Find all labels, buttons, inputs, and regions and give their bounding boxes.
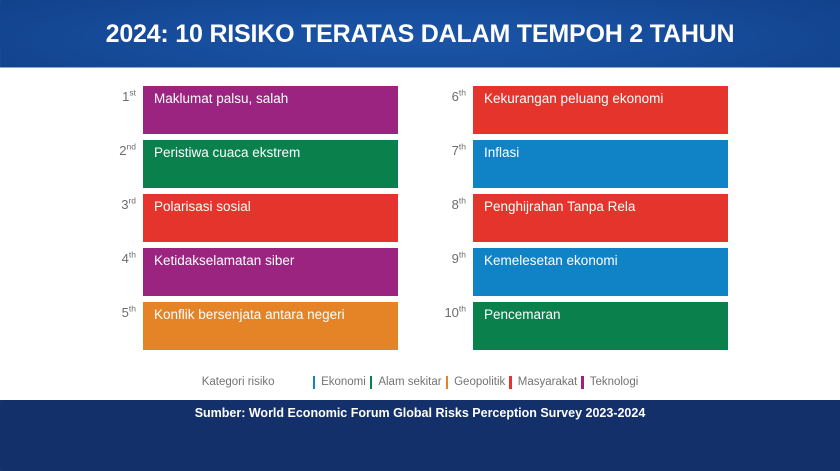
legend-color-tick — [370, 376, 373, 389]
risk-bar[interactable]: Ketidakselamatan siber — [143, 248, 398, 296]
risk-rank-suffix: th — [459, 88, 466, 98]
risk-row: 7thInflasi — [434, 140, 764, 188]
risk-rank-suffix: rd — [128, 196, 136, 206]
legend-item: Masyarakat — [505, 376, 577, 389]
risk-rank-number: 10 — [444, 305, 458, 320]
risk-bar[interactable]: Kekurangan peluang ekonomi — [473, 86, 728, 134]
risk-label: Peristiwa cuaca ekstrem — [154, 145, 398, 161]
infographic-root: 2024: 10 RISIKO TERATAS DALAM TEMPOH 2 T… — [0, 0, 840, 471]
risk-columns: 1stMaklumat palsu, salah2ndPeristiwa cua… — [0, 68, 840, 364]
risk-bar[interactable]: Pencemaran — [473, 302, 728, 350]
risk-rank: 9th — [434, 248, 466, 269]
legend-item-label: Teknologi — [590, 376, 639, 388]
source-note: Sumber: World Economic Forum Global Risk… — [0, 406, 840, 420]
risk-column-left: 1stMaklumat palsu, salah2ndPeristiwa cua… — [104, 86, 434, 356]
risk-row: 2ndPeristiwa cuaca ekstrem — [104, 140, 434, 188]
risk-rank-suffix: nd — [127, 142, 136, 152]
risk-rank-number: 9 — [452, 251, 459, 266]
risk-bar[interactable]: Maklumat palsu, salah — [143, 86, 398, 134]
risk-label: Kekurangan peluang ekonomi — [484, 91, 728, 107]
risk-row: 5thKonflik bersenjata antara negeri — [104, 302, 434, 350]
legend-items: EkonomiAlam sekitarGeopolitikMasyarakatT… — [309, 376, 639, 389]
risk-label: Pencemaran — [484, 307, 728, 323]
risk-rank-number: 2 — [119, 143, 126, 158]
legend: Kategori risiko EkonomiAlam sekitarGeopo… — [0, 372, 840, 392]
risk-bar[interactable]: Polarisasi sosial — [143, 194, 398, 242]
risk-row: 9thKemelesetan ekonomi — [434, 248, 764, 296]
risk-row: 4thKetidakselamatan siber — [104, 248, 434, 296]
risk-bar[interactable]: Penghijrahan Tanpa Rela — [473, 194, 728, 242]
risk-rank-suffix: st — [129, 88, 136, 98]
risk-label: Inflasi — [484, 145, 728, 161]
risk-rank: 4th — [104, 248, 136, 269]
legend-item: Geopolitik — [442, 376, 506, 389]
risk-bar[interactable]: Konflik bersenjata antara negeri — [143, 302, 398, 350]
legend-item-label: Alam sekitar — [378, 376, 441, 388]
legend-color-tick — [313, 376, 316, 389]
risk-rank: 3rd — [104, 194, 136, 215]
legend-item-label: Ekonomi — [321, 376, 366, 388]
risk-rank-suffix: th — [129, 304, 136, 314]
risk-rank-number: 5 — [122, 305, 129, 320]
risk-rank-number: 7 — [452, 143, 459, 158]
risk-label: Kemelesetan ekonomi — [484, 253, 728, 269]
risk-label: Ketidakselamatan siber — [154, 253, 398, 269]
legend-item: Alam sekitar — [366, 376, 442, 389]
legend-color-tick — [509, 376, 512, 389]
risk-rank-suffix: th — [459, 304, 466, 314]
legend-item: Teknologi — [577, 376, 638, 389]
risk-label: Konflik bersenjata antara negeri — [154, 307, 398, 323]
risk-row: 10thPencemaran — [434, 302, 764, 350]
risk-label: Penghijrahan Tanpa Rela — [484, 199, 728, 215]
risk-bar[interactable]: Kemelesetan ekonomi — [473, 248, 728, 296]
risk-rank-suffix: th — [459, 142, 466, 152]
risk-rank: 7th — [434, 140, 466, 161]
risk-row: 1stMaklumat palsu, salah — [104, 86, 434, 134]
risk-row: 3rdPolarisasi sosial — [104, 194, 434, 242]
legend-item: Ekonomi — [309, 376, 366, 389]
legend-color-tick — [581, 376, 584, 389]
legend-color-tick — [446, 376, 449, 389]
risk-rank-suffix: th — [459, 196, 466, 206]
page-title: 2024: 10 RISIKO TERATAS DALAM TEMPOH 2 T… — [0, 0, 840, 68]
risk-bar[interactable]: Peristiwa cuaca ekstrem — [143, 140, 398, 188]
risk-rank-number: 4 — [122, 251, 129, 266]
risk-rank: 10th — [434, 302, 466, 323]
risk-rank-number: 6 — [452, 89, 459, 104]
risk-label: Maklumat palsu, salah — [154, 91, 398, 107]
risk-rank: 6th — [434, 86, 466, 107]
risk-rank: 2nd — [104, 140, 136, 161]
risk-rank-suffix: th — [459, 250, 466, 260]
footer-banner: Sumber: World Economic Forum Global Risk… — [0, 400, 840, 471]
risk-rank: 8th — [434, 194, 466, 215]
risk-rank-suffix: th — [129, 250, 136, 260]
risk-row: 8thPenghijrahan Tanpa Rela — [434, 194, 764, 242]
risk-column-right: 6thKekurangan peluang ekonomi7thInflasi8… — [434, 86, 764, 356]
legend-item-label: Masyarakat — [518, 376, 577, 388]
header-banner: 2024: 10 RISIKO TERATAS DALAM TEMPOH 2 T… — [0, 0, 840, 68]
risk-rank: 1st — [104, 86, 136, 107]
legend-caption: Kategori risiko — [202, 376, 275, 388]
risk-label: Polarisasi sosial — [154, 199, 398, 215]
legend-item-label: Geopolitik — [454, 376, 505, 388]
risk-row: 6thKekurangan peluang ekonomi — [434, 86, 764, 134]
risk-rank-number: 8 — [452, 197, 459, 212]
risk-bar[interactable]: Inflasi — [473, 140, 728, 188]
risk-rank: 5th — [104, 302, 136, 323]
